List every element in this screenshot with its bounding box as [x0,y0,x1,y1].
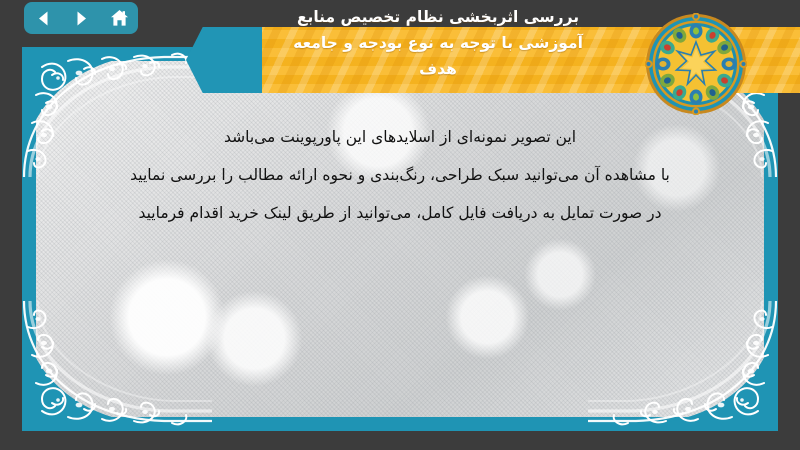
home-icon [110,9,129,27]
forward-button[interactable] [68,6,94,30]
triangle-left-icon [35,10,52,27]
triangle-right-icon [73,10,90,27]
slide-navigation-bar [24,2,138,34]
back-button[interactable] [30,6,56,30]
presentation-slide: بررسی اثربخشی نظام تخصیص منابع آموزشی با… [0,0,800,450]
persian-mandala-medallion-icon [645,13,747,115]
home-button[interactable] [106,6,132,30]
